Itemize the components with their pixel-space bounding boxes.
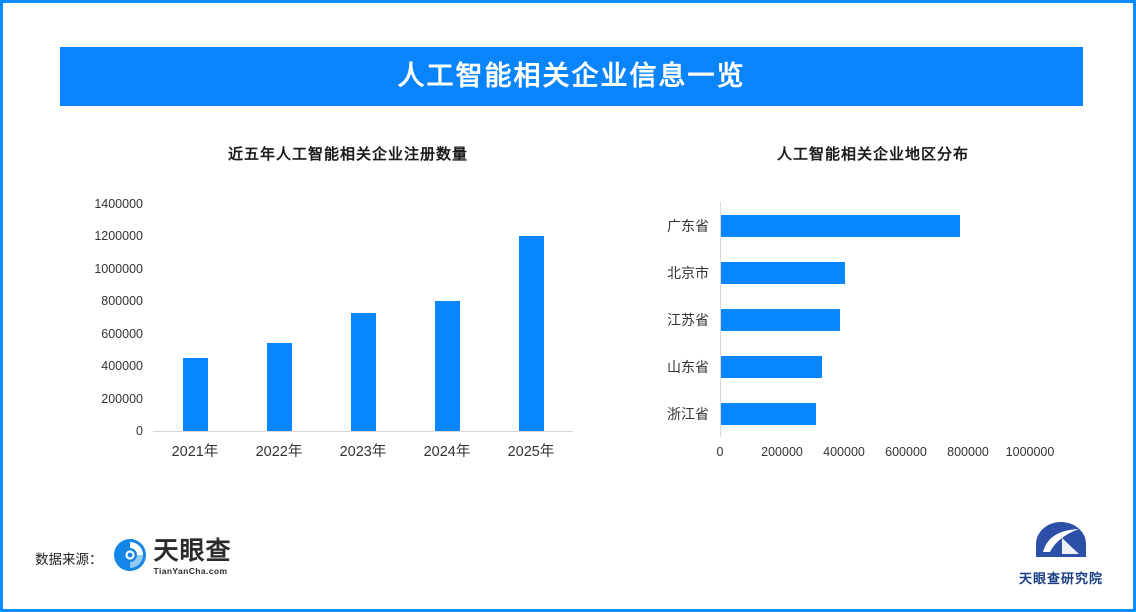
bar-cell xyxy=(489,204,573,431)
source-label: 数据来源： xyxy=(35,548,103,568)
chart-panel-regions: 人工智能相关企业地区分布 广东省北京市江苏省山东省浙江省 02000004000… xyxy=(633,143,1083,513)
bar-广东省 xyxy=(721,215,960,237)
bar-2023年 xyxy=(351,313,376,431)
bar-cell xyxy=(405,204,489,431)
research-institute-name: 天眼查研究院 xyxy=(1019,568,1103,587)
y-axis-tick-label: 广东省 xyxy=(667,215,709,237)
bar-江苏省 xyxy=(721,309,840,331)
x-axis-tick-label: 1000000 xyxy=(1006,445,1055,459)
bar-浙江省 xyxy=(721,403,816,425)
y-axis-tick-label: 200000 xyxy=(101,392,143,406)
horizontal-chart-bars: 广东省北京市江苏省山东省浙江省 xyxy=(721,202,1031,437)
chart-panel-registrations: 近五年人工智能相关企业注册数量 140000012000001000000800… xyxy=(78,143,598,513)
y-axis-tick-label: 浙江省 xyxy=(667,403,709,425)
bar-cell xyxy=(237,204,321,431)
bar-2024年 xyxy=(435,301,460,431)
x-axis-tick-label: 2021年 xyxy=(153,440,237,461)
page-title: 人工智能相关企业信息一览 xyxy=(398,63,746,90)
chart-title-regions: 人工智能相关企业地区分布 xyxy=(633,143,1083,164)
bar-2025年 xyxy=(519,236,544,431)
infographic-page: 人工智能相关企业信息一览 近五年人工智能相关企业注册数量 14000001200… xyxy=(0,0,1136,612)
horizontal-bar-chart: 广东省北京市江苏省山东省浙江省 020000040000060000080000… xyxy=(633,202,1083,492)
bar-2022年 xyxy=(267,343,292,431)
y-axis-tick-label: 1400000 xyxy=(94,197,143,211)
bar-row: 北京市 xyxy=(721,262,1031,284)
vertical-chart-x-axis: 2021年2022年2023年2024年2025年 xyxy=(153,440,573,461)
x-axis-tick-label: 2022年 xyxy=(237,440,321,461)
horizontal-chart-plot-area: 广东省北京市江苏省山东省浙江省 xyxy=(720,202,1031,437)
tianyancha-name-cn: 天眼查 xyxy=(154,539,232,564)
y-axis-tick-label: 600000 xyxy=(101,327,143,341)
x-axis-tick-label: 0 xyxy=(717,445,724,459)
y-axis-tick-label: 800000 xyxy=(101,294,143,308)
vertical-bar-chart: 1400000120000010000008000006000004000002… xyxy=(78,204,598,484)
vertical-chart-plot-area: 1400000120000010000008000006000004000002… xyxy=(153,204,573,432)
data-source-footer: 数据来源： 天眼查 TianYanCha.com xyxy=(35,538,232,577)
x-axis-tick-label: 400000 xyxy=(823,445,865,459)
x-axis-tick-label: 2024年 xyxy=(405,440,489,461)
header-banner: 人工智能相关企业信息一览 xyxy=(60,47,1083,106)
bar-cell xyxy=(153,204,237,431)
bar-row: 山东省 xyxy=(721,356,1031,378)
x-axis-tick-label: 2023年 xyxy=(321,440,405,461)
y-axis-tick-label: 1000000 xyxy=(94,262,143,276)
y-axis-tick-label: 山东省 xyxy=(667,356,709,378)
bar-cell xyxy=(321,204,405,431)
x-axis-tick-label: 2025年 xyxy=(489,440,573,461)
bar-row: 江苏省 xyxy=(721,309,1031,331)
y-axis-tick-label: 江苏省 xyxy=(667,309,709,331)
tianyancha-wordmark: 天眼查 TianYanCha.com xyxy=(154,539,232,576)
research-institute-mark-icon xyxy=(1035,521,1087,566)
x-axis-tick-label: 800000 xyxy=(947,445,989,459)
y-axis-tick-label: 400000 xyxy=(101,359,143,373)
research-institute-logo: 天眼查研究院 xyxy=(1019,521,1103,587)
bar-row: 浙江省 xyxy=(721,403,1031,425)
bar-北京市 xyxy=(721,262,845,284)
tianyancha-mark-icon xyxy=(113,538,147,577)
y-axis-tick-label: 0 xyxy=(136,424,143,438)
tianyancha-logo: 天眼查 TianYanCha.com xyxy=(113,538,232,577)
tianyancha-name-en: TianYanCha.com xyxy=(154,566,232,576)
x-axis-tick-label: 600000 xyxy=(885,445,927,459)
x-axis-tick-label: 200000 xyxy=(761,445,803,459)
y-axis-tick-label: 1200000 xyxy=(94,229,143,243)
y-axis-tick-label: 北京市 xyxy=(667,262,709,284)
vertical-chart-bars xyxy=(153,204,573,431)
bar-row: 广东省 xyxy=(721,215,1031,237)
chart-title-registrations: 近五年人工智能相关企业注册数量 xyxy=(78,143,598,164)
bar-山东省 xyxy=(721,356,822,378)
bar-2021年 xyxy=(183,358,208,431)
